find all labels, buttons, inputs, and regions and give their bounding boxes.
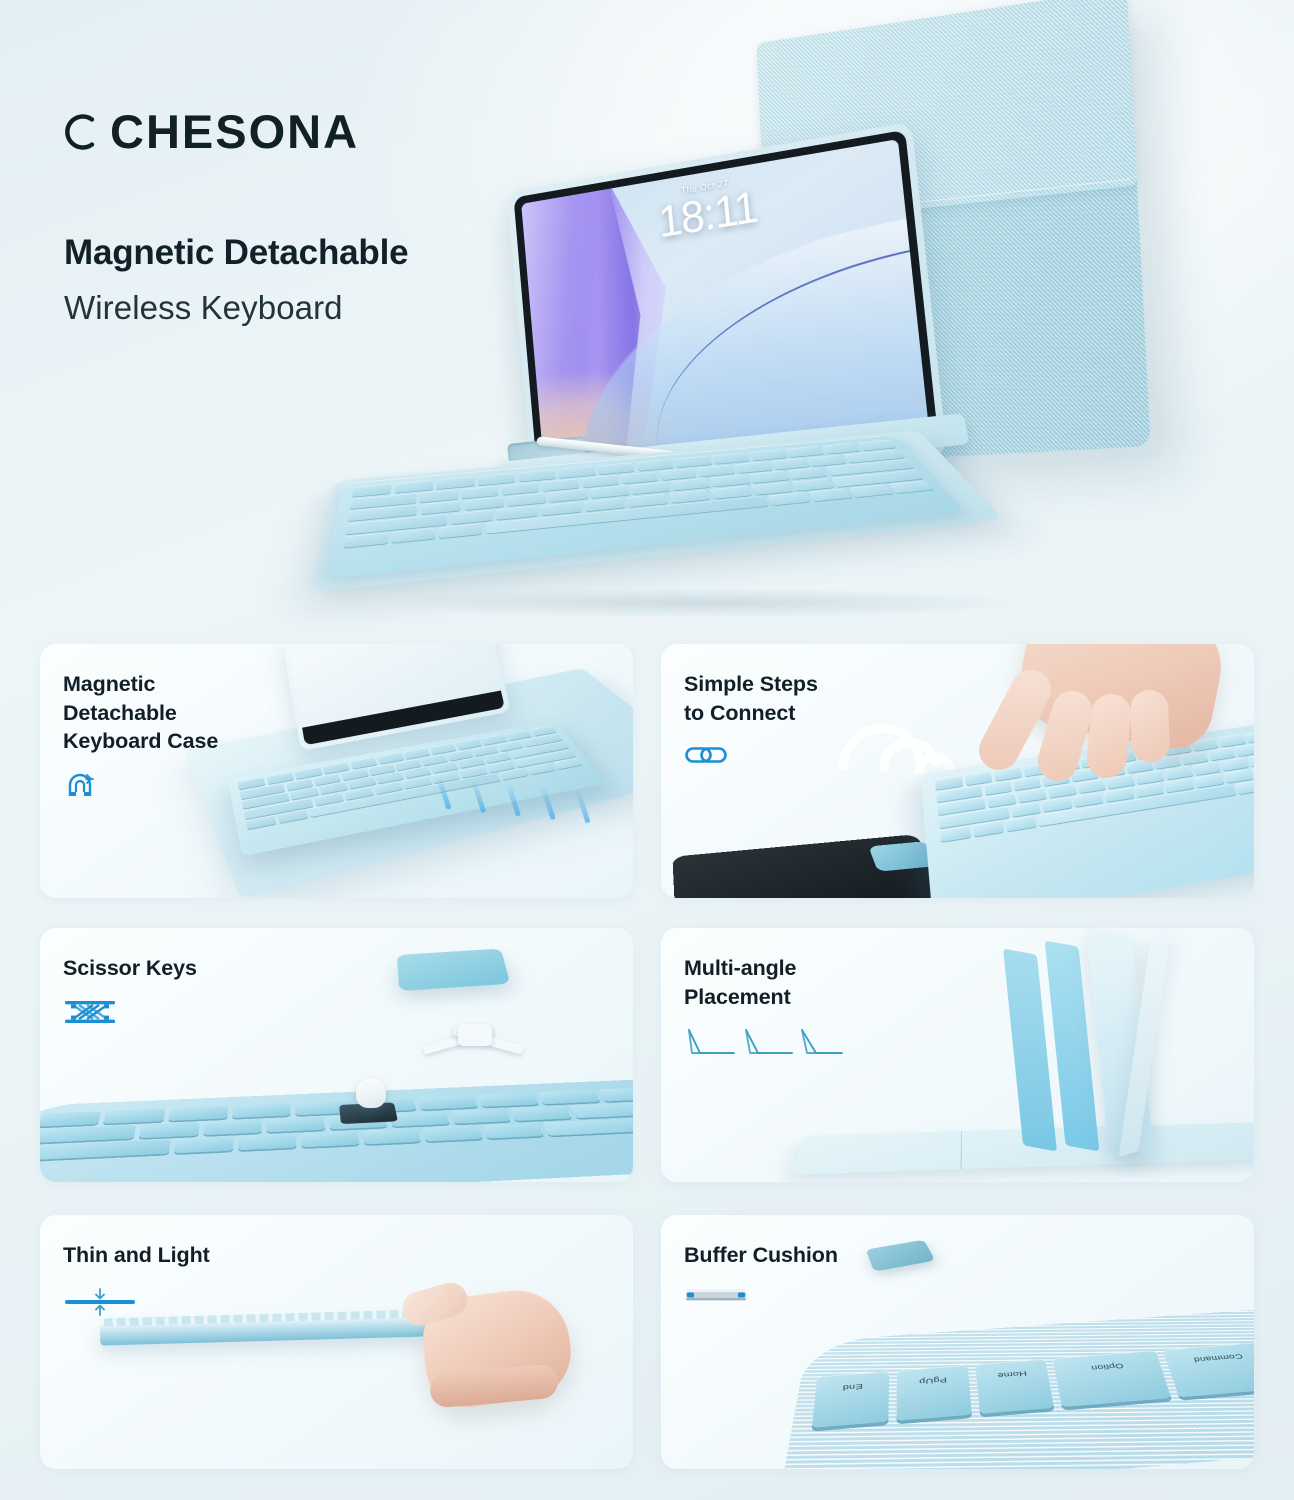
- card3-floating-keycap: [397, 949, 511, 992]
- card6-head: Buffer Cushion: [684, 1241, 838, 1304]
- hero-subtitle: Wireless Keyboard: [64, 288, 343, 328]
- three-stand-angles-icon: [684, 1027, 844, 1057]
- feature-card-multi-angle-placement[interactable]: Multi-angle Placement: [661, 928, 1254, 1182]
- feature-card-buffer-cushion[interactable]: End PgUp Home Option Command Buffer Cush…: [661, 1215, 1254, 1469]
- hero-contact-shadow: [380, 588, 1020, 618]
- card3-title: Scissor Keys: [63, 954, 197, 983]
- card5-hand-art: [396, 1277, 586, 1417]
- card4-head: Multi-angle Placement: [684, 954, 844, 1057]
- cushion-bar-icon: [684, 1286, 838, 1304]
- keycap-label: Option: [1054, 1359, 1160, 1375]
- hero-keyboard: [324, 435, 965, 579]
- card3-keyboard-deck-art: [40, 1078, 633, 1182]
- card2-hand-art: [961, 644, 1211, 782]
- keycap-home: Home: [975, 1359, 1054, 1414]
- card6-cushion-pad: [866, 1240, 936, 1272]
- card3-key-plunger: [356, 1078, 386, 1108]
- keycap-label: PgUp: [897, 1374, 969, 1387]
- keycap-command: Command: [1162, 1342, 1254, 1397]
- card3-scissor-mechanism: [418, 1022, 538, 1076]
- card5-title: Thin and Light: [63, 1241, 210, 1270]
- card1-head: Magnetic Detachable Keyboard Case: [63, 670, 218, 802]
- chesona-c-logo-icon: [62, 110, 106, 154]
- keyboard-deck: [324, 435, 965, 579]
- scissor-switch-icon: [63, 999, 197, 1025]
- keycap-option: Option: [1053, 1350, 1171, 1407]
- card4-title: Multi-angle Placement: [684, 954, 844, 1011]
- card2-tablet-corner-art: [672, 834, 946, 898]
- hero-product-photo: Thu Oct 27 18:11: [330, 0, 1294, 630]
- thickness-arrows-icon: [63, 1286, 210, 1318]
- card1-title: Magnetic Detachable Keyboard Case: [63, 670, 218, 756]
- link-chain-icon: [684, 743, 818, 767]
- feature-card-magnetic-detachable-keyboard-case[interactable]: Magnetic Detachable Keyboard Case: [40, 644, 633, 898]
- keycap-pgup: PgUp: [897, 1365, 972, 1421]
- magnet-icon: [63, 772, 218, 802]
- keycap-label: End: [816, 1380, 889, 1394]
- feature-card-scissor-keys[interactable]: Scissor Keys: [40, 928, 633, 1182]
- keycap-label: Command: [1165, 1350, 1254, 1365]
- card5-thin-keyboard-art: [100, 1314, 430, 1345]
- feature-card-simple-steps-to-connect[interactable]: Simple Steps to Connect: [661, 644, 1254, 898]
- card2-head: Simple Steps to Connect: [684, 670, 818, 767]
- hero-banner: CHESONA Magnetic Detachable Wireless Key…: [0, 0, 1294, 630]
- brand-name: CHESONA: [110, 108, 359, 155]
- keycap-label: Home: [976, 1368, 1048, 1381]
- keycap-end: End: [812, 1371, 889, 1428]
- card6-title: Buffer Cushion: [684, 1241, 838, 1270]
- card5-head: Thin and Light: [63, 1241, 210, 1318]
- feature-card-thin-and-light[interactable]: Thin and Light: [40, 1215, 633, 1469]
- card2-title: Simple Steps to Connect: [684, 670, 818, 727]
- brand-lockup: CHESONA: [62, 108, 359, 155]
- card3-head: Scissor Keys: [63, 954, 197, 1025]
